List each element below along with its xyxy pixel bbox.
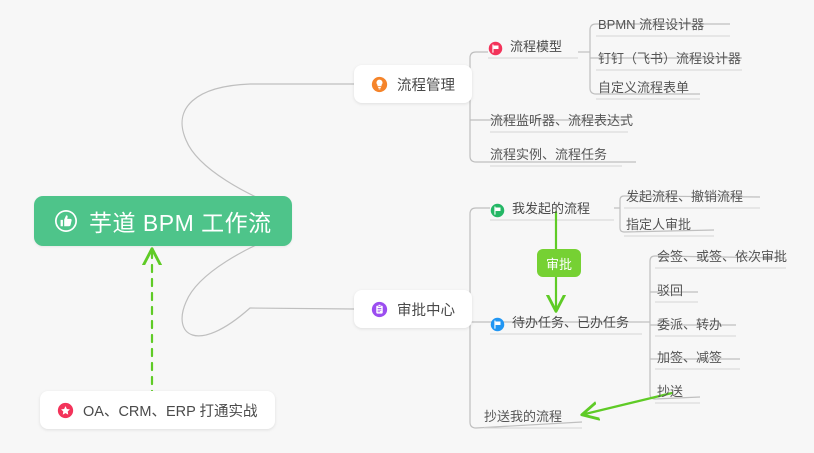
leaf-node-add-remove-sign[interactable]: 加签、减签	[657, 345, 722, 369]
thumbs-up-icon	[54, 209, 78, 233]
leaf-label-add-remove-sign: 加签、减签	[657, 349, 722, 367]
leaf-label-start-cancel-process: 发起流程、撤销流程	[626, 188, 743, 206]
leaf-label-process-instance-task: 流程实例、流程任务	[490, 146, 607, 164]
leaf-label-cc-to-me-process: 抄送我的流程	[484, 408, 562, 426]
leaf-label-reject: 驳回	[657, 282, 683, 300]
topic-label-my-initiated-process: 我发起的流程	[512, 200, 590, 218]
lightbulb-icon	[371, 76, 388, 93]
leaf-node-process-instance-task[interactable]: 流程实例、流程任务	[490, 142, 607, 166]
leaf-node-delegate-transfer[interactable]: 委派、转办	[657, 312, 722, 336]
topic-label-todo-done-tasks: 待办任务、已办任务	[512, 314, 629, 332]
bottom-node-label: OA、CRM、ERP 打通实战	[83, 400, 258, 421]
branch-node-approval-center[interactable]: 审批中心	[354, 290, 472, 328]
leaf-label-bpmn-designer: BPMN 流程设计器	[598, 16, 704, 34]
flag-icon	[490, 317, 505, 332]
root-node[interactable]: 芋道 BPM 工作流	[34, 196, 292, 246]
leaf-node-reject[interactable]: 驳回	[657, 278, 683, 302]
leaf-label-process-listener-expression: 流程监听器、流程表达式	[490, 112, 633, 130]
topic-node-process-model[interactable]: 流程模型	[488, 32, 562, 58]
star-icon	[57, 402, 74, 419]
root-label: 芋道 BPM 工作流	[89, 204, 272, 238]
flag-icon	[490, 203, 505, 218]
leaf-node-start-cancel-process[interactable]: 发起流程、撤销流程	[626, 184, 743, 208]
leaf-node-custom-process-form[interactable]: 自定义流程表单	[598, 75, 689, 99]
topic-node-my-initiated-process[interactable]: 我发起的流程	[490, 194, 590, 220]
bottom-node-integration[interactable]: OA、CRM、ERP 打通实战	[40, 391, 275, 429]
leaf-node-bpmn-designer[interactable]: BPMN 流程设计器	[598, 12, 704, 36]
leaf-label-assignee-approval: 指定人审批	[626, 216, 691, 234]
clipboard-icon	[371, 301, 388, 318]
leaf-label-delegate-transfer: 委派、转办	[657, 316, 722, 334]
leaf-node-cc-to-me-process[interactable]: 抄送我的流程	[484, 404, 562, 428]
leaf-node-countersign-or-sequential[interactable]: 会签、或签、依次审批	[657, 244, 787, 268]
approval-callout-label: 审批	[546, 254, 572, 273]
leaf-node-cc[interactable]: 抄送	[657, 379, 683, 403]
branch-label-process-management: 流程管理	[397, 74, 455, 95]
leaf-node-dingtalk-feishu-designer[interactable]: 钉钉（飞书）流程设计器	[598, 46, 741, 70]
leaf-label-custom-process-form: 自定义流程表单	[598, 79, 689, 97]
approval-callout: 审批	[537, 249, 581, 277]
leaf-node-assignee-approval[interactable]: 指定人审批	[626, 212, 691, 236]
flag-icon	[488, 41, 503, 56]
branch-node-process-management[interactable]: 流程管理	[354, 65, 472, 103]
mindmap-canvas: 芋道 BPM 工作流 流程管理 审批中心	[0, 0, 814, 453]
leaf-label-cc: 抄送	[657, 383, 683, 401]
branch-label-approval-center: 审批中心	[397, 299, 455, 320]
topic-node-todo-done-tasks[interactable]: 待办任务、已办任务	[490, 308, 629, 334]
leaf-label-countersign-or-sequential: 会签、或签、依次审批	[657, 248, 787, 266]
leaf-label-dingtalk-feishu-designer: 钉钉（飞书）流程设计器	[598, 50, 741, 68]
leaf-node-process-listener-expression[interactable]: 流程监听器、流程表达式	[490, 108, 633, 132]
topic-label-process-model: 流程模型	[510, 38, 562, 56]
